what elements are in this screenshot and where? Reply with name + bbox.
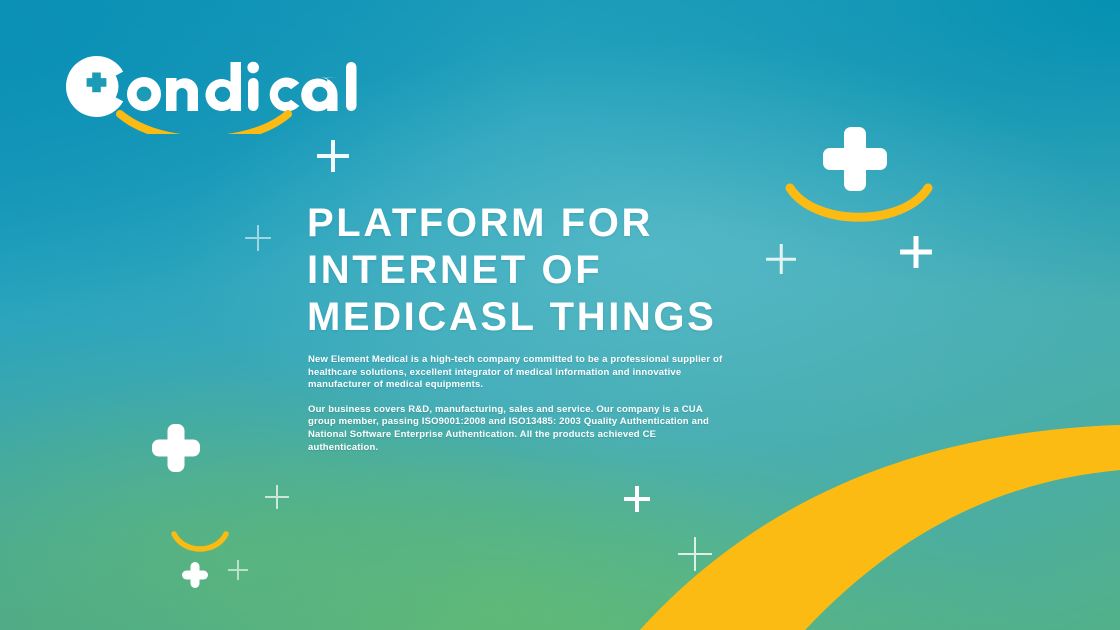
body-copy: New Element Medical is a high-tech compa… — [308, 354, 728, 454]
medical-cross-icon-bottom-left — [182, 562, 208, 588]
body-paragraph-2: Our business covers R&D, manufacturing, … — [308, 404, 728, 454]
medical-cross-icon-right — [823, 127, 887, 191]
page-title: PLATFORM FOR INTERNET OF MEDICASL THINGS — [307, 200, 827, 341]
medical-cross-icon-left — [152, 424, 200, 472]
smile-arc-icon-left — [170, 530, 230, 554]
headline-line-2: INTERNET OF — [307, 247, 827, 294]
plus-icon-4 — [900, 236, 932, 268]
logo-smile-icon — [120, 114, 288, 134]
plus-icon-1 — [317, 140, 349, 172]
plus-icon-2 — [245, 225, 271, 251]
smile-arc-icon-right — [785, 183, 933, 225]
brand-logo[interactable] — [62, 52, 362, 134]
plus-icon-6 — [624, 486, 650, 512]
plus-icon-8 — [228, 560, 248, 580]
plus-icon-7 — [678, 537, 712, 571]
headline-line-1: PLATFORM FOR — [307, 200, 827, 247]
logo-c-with-cross-icon — [66, 56, 123, 117]
plus-icon-3 — [766, 244, 796, 274]
body-paragraph-1: New Element Medical is a high-tech compa… — [308, 354, 728, 392]
slide-canvas: PLATFORM FOR INTERNET OF MEDICASL THINGS… — [0, 0, 1120, 630]
logo-wordmark — [127, 62, 357, 112]
headline-line-3: MEDICASL THINGS — [307, 294, 827, 341]
plus-icon-5 — [265, 485, 289, 509]
